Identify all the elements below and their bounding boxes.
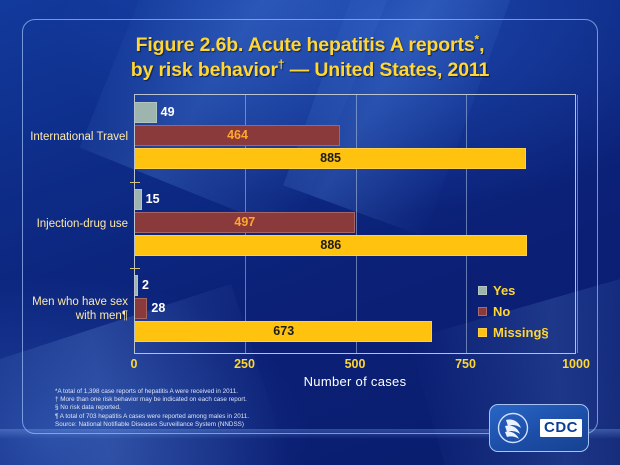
bar-value-label: 673 xyxy=(135,321,432,342)
x-axis-tick-label: 1000 xyxy=(546,357,606,371)
bar-group: 49464885 xyxy=(135,95,575,182)
legend-item-yes[interactable]: Yes xyxy=(478,280,574,301)
legend-label-missing: Missing§ xyxy=(493,325,549,340)
hhs-seal-icon xyxy=(496,411,536,445)
footnotes-block: *A total of 1,398 case reports of hepati… xyxy=(55,388,385,429)
legend-item-no[interactable]: No xyxy=(478,301,574,322)
x-axis-title: Number of cases xyxy=(134,374,576,389)
cdc-logo[interactable]: CDC xyxy=(489,404,589,452)
y-axis-label-international-travel: International Travel xyxy=(10,131,128,145)
y-axis-tick xyxy=(130,182,140,183)
title-line-1: Figure 2.6b. Acute hepatitis A reports xyxy=(136,34,475,56)
bar-value-label: 15 xyxy=(146,189,160,210)
title-line-1-tail: , xyxy=(479,34,484,56)
legend-swatch-no xyxy=(478,307,487,316)
bar-value-label: 28 xyxy=(151,298,165,319)
title-line-2: by risk behavior xyxy=(131,59,278,81)
legend-swatch-missing xyxy=(478,328,487,337)
bar-no[interactable] xyxy=(135,298,147,319)
bar-yes[interactable] xyxy=(135,189,142,210)
legend-label-yes: Yes xyxy=(493,283,515,298)
bar-value-label: 2 xyxy=(142,275,149,296)
footnote-dagger: † More than one risk behavior may be ind… xyxy=(55,396,385,404)
bar-value-label: 49 xyxy=(161,102,175,123)
y-axis-label-injection-drug-use: Injection-drug use xyxy=(10,218,128,232)
chart-gridline xyxy=(577,95,578,353)
y-axis-tick xyxy=(130,268,140,269)
bar-yes[interactable] xyxy=(135,102,157,123)
bar-value-label: 464 xyxy=(135,125,340,146)
cdc-wordmark: CDC xyxy=(540,419,582,437)
x-axis-tick-label: 500 xyxy=(325,357,385,371)
footnote-section: § No risk data reported. xyxy=(55,404,385,412)
bar-yes[interactable] xyxy=(135,275,138,296)
title-line-2-tail: — United States, 2011 xyxy=(284,59,489,81)
slide-canvas: Figure 2.6b. Acute hepatitis A reports*,… xyxy=(0,0,620,465)
bar-group: 15497886 xyxy=(135,182,575,269)
chart-legend: Yes No Missing§ xyxy=(478,280,574,343)
x-axis-tick-label: 250 xyxy=(215,357,275,371)
footnote-pilcrow: ¶ A total of 703 hepatitis A cases were … xyxy=(55,413,385,421)
x-axis-tick-label: 0 xyxy=(104,357,164,371)
footnote-source: Source: National Notifiable Diseases Sur… xyxy=(55,421,385,429)
footnote-asterisk: *A total of 1,398 case reports of hepati… xyxy=(55,388,385,396)
legend-item-missing[interactable]: Missing§ xyxy=(478,322,574,343)
bar-value-label: 497 xyxy=(135,212,355,233)
bar-value-label: 886 xyxy=(135,235,527,256)
bar-value-label: 885 xyxy=(135,148,526,169)
legend-label-no: No xyxy=(493,304,510,319)
title-line-2-wrap: by risk behavior† — United States, 2011 xyxy=(40,58,580,83)
legend-swatch-yes xyxy=(478,286,487,295)
y-axis-label-men-who-have-sex-with-men: Men who have sex with men¶ xyxy=(10,296,128,323)
x-axis-tick-label: 750 xyxy=(436,357,496,371)
page-title: Figure 2.6b. Acute hepatitis A reports*,… xyxy=(40,33,580,83)
